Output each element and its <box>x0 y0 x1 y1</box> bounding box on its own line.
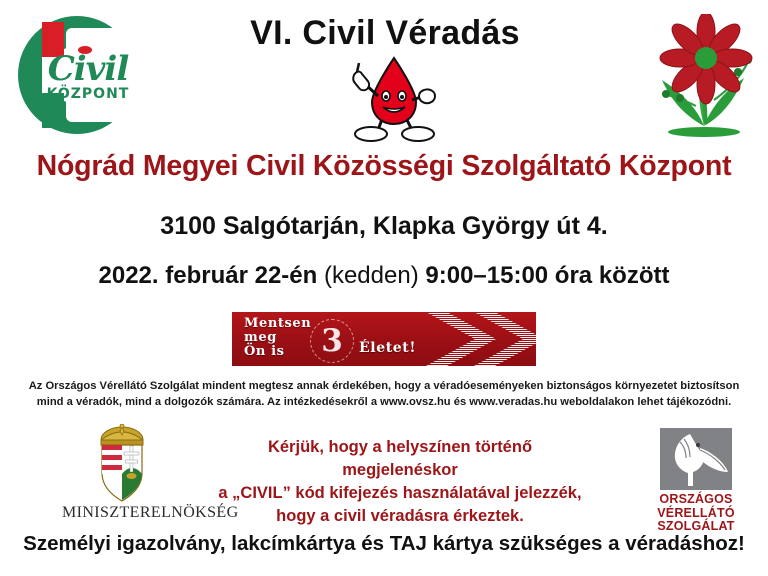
civil-kozpont-logo: Civil KÖZPONT <box>18 16 136 134</box>
banner-slogan: Mentsen meg Ön is <box>244 317 311 359</box>
ovsz-name-line-1: ORSZÁGOS <box>650 493 742 507</box>
organization-name: Nógrád Megyei Civil Közösségi Szolgáltat… <box>0 150 768 183</box>
hungarian-coat-of-arms-icon <box>62 424 182 502</box>
banner-chevron-left-icon <box>426 312 496 366</box>
banner-line-3: Ön is <box>244 345 311 359</box>
ovsz-name-line-2: VÉRELLÁTÓ <box>650 507 742 521</box>
requirements-line: Személyi igazolvány, lakcímkártya és TAJ… <box>0 532 768 556</box>
banner-number-three: 3 <box>310 319 354 363</box>
logo-word-civil: Civil <box>40 52 136 86</box>
ovsz-logo-name: ORSZÁGOS VÉRELLÁTÓ SZOLGÁLAT <box>650 493 742 534</box>
logo-wordmark: Civil KÖZPONT <box>40 52 136 101</box>
civil-code-line-3: hogy a civil véradásra érkeztek. <box>210 505 590 528</box>
save-lives-banner: Mentsen meg Ön is 3 Életet! <box>232 312 536 366</box>
banner-line-2: meg <box>244 331 311 345</box>
ministry-logo: MINISZTERELNÖKSÉG <box>62 424 182 522</box>
ovsz-safety-note: Az Országos Vérellátó Szolgálat mindent … <box>14 378 754 410</box>
event-weekday: (kedden) <box>324 262 419 289</box>
event-hours: 9:00–15:00 óra között <box>425 262 669 289</box>
ministry-logo-caption: MINISZTERELNÖKSÉG <box>62 504 182 522</box>
poster-header: Civil KÖZPONT VI. Civil Véradás <box>0 0 768 145</box>
civil-code-line-2: a „CIVIL” kód kifejezés használatával je… <box>210 482 590 505</box>
civil-code-line-1: Kérjük, hogy a helyszínen történő megjel… <box>210 436 590 482</box>
ovsz-logo: ORSZÁGOS VÉRELLÁTÓ SZOLGÁLAT <box>650 428 742 534</box>
logo-word-kozpont: KÖZPONT <box>40 87 136 101</box>
flower-decoration-icon <box>652 14 764 139</box>
banner-line-1: Mentsen <box>244 317 311 331</box>
banner-line-4: Életet! <box>359 340 416 356</box>
event-date: 2022. február 22-én <box>99 262 318 289</box>
venue-address: 3100 Salgótarján, Klapka György út 4. <box>0 212 768 241</box>
civil-code-message: Kérjük, hogy a helyszínen történő megjel… <box>210 436 590 528</box>
page-title: VI. Civil Véradás <box>160 14 610 53</box>
blood-drop-mascot-icon <box>338 52 450 144</box>
pelican-icon <box>660 428 732 490</box>
event-datetime: 2022. február 22-én (kedden) 9:00–15:00 … <box>0 262 768 290</box>
